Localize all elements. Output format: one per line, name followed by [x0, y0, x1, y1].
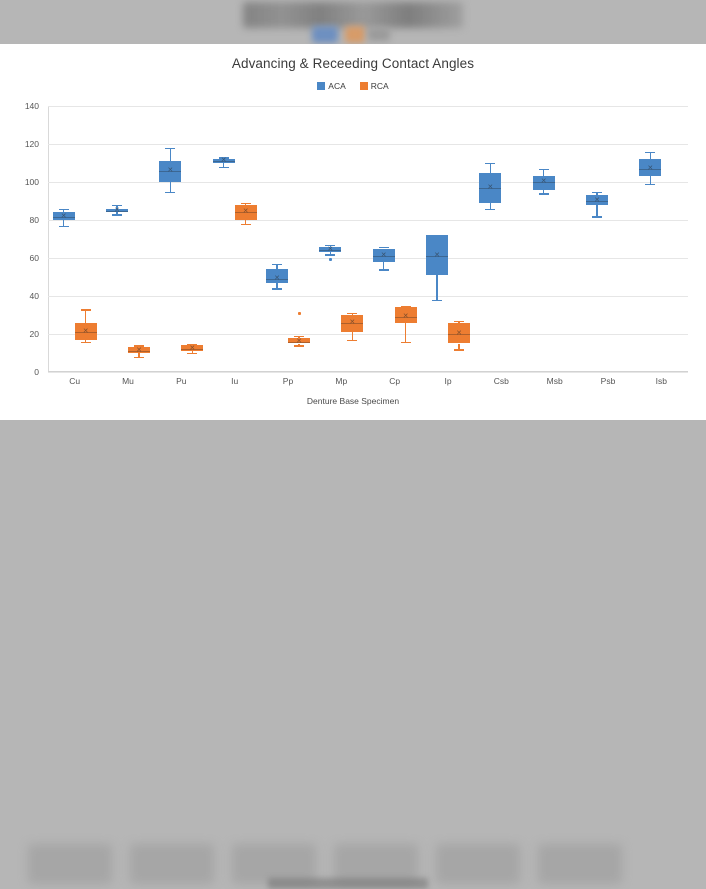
y-tick-label: 20: [1, 329, 39, 339]
y-tick-label: 0: [1, 367, 39, 377]
x-tick-label: Ip: [418, 376, 478, 386]
blurred-footer-block-5: [436, 844, 520, 884]
y-tick-label: 60: [1, 253, 39, 263]
x-tick-label: Cu: [45, 376, 105, 386]
legend-item: RCA: [360, 81, 389, 91]
x-tick-label: Pp: [258, 376, 318, 386]
boxplot-rca-ip: ✕: [48, 106, 688, 372]
x-axis-tick-labels: CuMuPuIuPpMpCpIpCsbMsbPsbIsb: [48, 376, 688, 390]
legend-swatch: [360, 82, 368, 90]
whisker-cap-lower: [454, 349, 464, 350]
x-tick-label: Mu: [98, 376, 158, 386]
screenshot-root: Advancing & Receeding Contact Angles ACA…: [0, 0, 706, 471]
x-tick-label: Mp: [311, 376, 371, 386]
x-tick-label: Msb: [525, 376, 585, 386]
blurred-footer-block-2: [130, 844, 214, 884]
y-tick-label: 140: [1, 101, 39, 111]
blurred-footer-block-1: [28, 844, 112, 884]
document-header-band: [0, 0, 706, 44]
x-tick-label: Csb: [471, 376, 531, 386]
legend-label: ACA: [328, 81, 345, 91]
mean-marker: ✕: [454, 330, 464, 337]
gridline: [48, 372, 688, 373]
chart-legend: ACARCA: [0, 81, 706, 91]
legend-swatch: [317, 82, 325, 90]
x-tick-label: Iu: [205, 376, 265, 386]
blurred-document-title: [243, 2, 463, 28]
legend-label: RCA: [371, 81, 389, 91]
blurred-footer-block-6: [538, 844, 622, 884]
y-axis-tick-labels: 020406080100120140: [0, 106, 44, 372]
y-tick-label: 100: [1, 177, 39, 187]
plot-area: ✕✕✕✕✕✕✕✕✕✕✕✕✕✕✕✕✕✕✕✕: [48, 106, 688, 372]
blurred-footer-caption: [268, 878, 428, 889]
y-tick-label: 40: [1, 291, 39, 301]
blurred-header-glyph-2: [345, 26, 365, 43]
chart-title: Advancing & Receeding Contact Angles: [0, 56, 706, 71]
blurred-header-glyph-3: [368, 28, 390, 41]
x-axis-title: Denture Base Specimen: [0, 396, 706, 406]
chart-card: Advancing & Receeding Contact Angles ACA…: [0, 44, 706, 420]
x-tick-label: Cp: [365, 376, 425, 386]
blurred-header-glyph-1: [312, 26, 338, 43]
y-tick-label: 80: [1, 215, 39, 225]
y-tick-label: 120: [1, 139, 39, 149]
legend-item: ACA: [317, 81, 345, 91]
x-tick-label: Pu: [151, 376, 211, 386]
document-footer-band: [0, 420, 706, 471]
x-tick-label: Psb: [578, 376, 638, 386]
x-tick-label: Isb: [631, 376, 691, 386]
